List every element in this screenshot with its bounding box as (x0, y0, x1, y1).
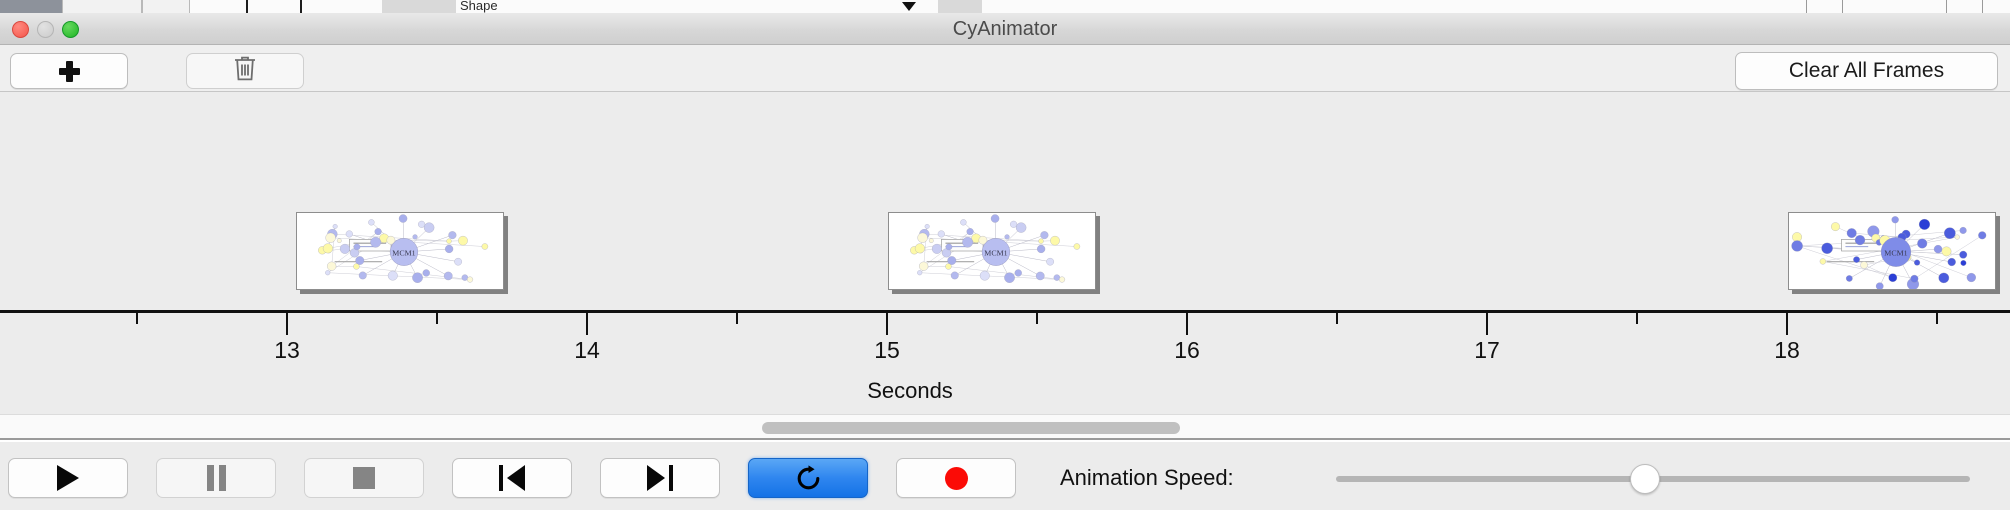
background-window-strip: Shape (0, 0, 2010, 13)
axis-tick-major (1186, 313, 1188, 335)
animation-speed-label: Animation Speed: (1060, 458, 1234, 498)
axis-baseline (0, 310, 2010, 313)
bg-tab (0, 0, 62, 13)
frame-thumbnail-2[interactable]: MCM1 (888, 212, 1096, 290)
skip-forward-icon (647, 465, 673, 491)
pause-icon (207, 465, 226, 491)
bg-tab (142, 0, 190, 13)
skip-to-end-button[interactable] (600, 458, 720, 498)
pause-button[interactable] (156, 458, 276, 498)
axis-tick-label: 15 (846, 337, 928, 364)
axis-tick-label: 13 (246, 337, 328, 364)
svg-text:MCM1: MCM1 (1884, 248, 1907, 257)
axis-tick-major (886, 313, 888, 335)
record-icon (945, 467, 968, 490)
page-title: CyAnimator (0, 13, 2010, 45)
record-button[interactable] (896, 458, 1016, 498)
axis-tick-major (286, 313, 288, 335)
timeline-horizontal-scrollbar[interactable] (0, 414, 2010, 440)
axis-tick-major (586, 313, 588, 335)
axis-tick-minor (736, 313, 738, 324)
axis-title: Seconds (0, 378, 2010, 404)
bg-divider (1842, 0, 1843, 13)
toolbar: Clear All Frames (0, 45, 2010, 92)
axis-tick-minor (1636, 313, 1638, 324)
skip-back-icon (499, 465, 525, 491)
clear-all-frames-button[interactable]: Clear All Frames (1735, 52, 1998, 90)
bg-divider (1946, 0, 1947, 13)
bg-divider (1982, 0, 1983, 13)
play-icon (57, 465, 79, 491)
axis-tick-major (1786, 313, 1788, 335)
playback-controls: Animation Speed: (0, 442, 2010, 510)
bg-tab (62, 0, 142, 13)
frame-thumbnail-3[interactable]: MCM1 (1788, 212, 1996, 290)
loop-button[interactable] (748, 458, 868, 498)
axis-tick-label: 17 (1446, 337, 1528, 364)
add-frame-button[interactable] (10, 53, 128, 89)
animation-speed-slider-knob[interactable] (1630, 464, 1660, 494)
bg-glyph (300, 0, 302, 13)
axis-tick-label: 2 (0, 337, 28, 364)
axis-tick-major (1486, 313, 1488, 335)
trash-icon (233, 55, 257, 87)
clear-all-frames-label: Clear All Frames (1789, 59, 1944, 83)
svg-text:MCM1: MCM1 (392, 248, 415, 257)
timeline-panel[interactable]: MCM1 MCM1 MCM1 2131415161718 Seconds (0, 92, 2010, 414)
plus-icon (59, 61, 80, 82)
bg-divider (1806, 0, 1807, 13)
play-button[interactable] (8, 458, 128, 498)
bg-glyph (246, 0, 248, 13)
axis-tick-minor (1936, 313, 1938, 324)
stop-button[interactable] (304, 458, 424, 498)
axis-tick-minor (1036, 313, 1038, 324)
bg-tab (938, 0, 982, 13)
stop-icon (353, 467, 375, 489)
axis-tick-minor (1336, 313, 1338, 324)
axis-tick-label: 14 (546, 337, 628, 364)
delete-frame-button[interactable] (186, 53, 304, 89)
skip-to-start-button[interactable] (452, 458, 572, 498)
bg-tab (382, 0, 456, 13)
axis-tick-minor (436, 313, 438, 324)
frames-track[interactable]: MCM1 MCM1 MCM1 (0, 92, 2010, 310)
svg-text:MCM1: MCM1 (984, 248, 1007, 257)
frame-thumbnail-1[interactable]: MCM1 (296, 212, 504, 290)
bg-arrow-glyph (902, 2, 916, 11)
axis-tick-label: 18 (1746, 337, 1828, 364)
bg-window-label: Shape (460, 0, 498, 13)
loop-icon (795, 465, 822, 492)
scrollbar-thumb[interactable] (762, 422, 1180, 434)
axis-tick-minor (136, 313, 138, 324)
title-bar[interactable]: CyAnimator (0, 13, 2010, 45)
time-axis: 2131415161718 Seconds (0, 310, 2010, 414)
axis-tick-label: 16 (1146, 337, 1228, 364)
